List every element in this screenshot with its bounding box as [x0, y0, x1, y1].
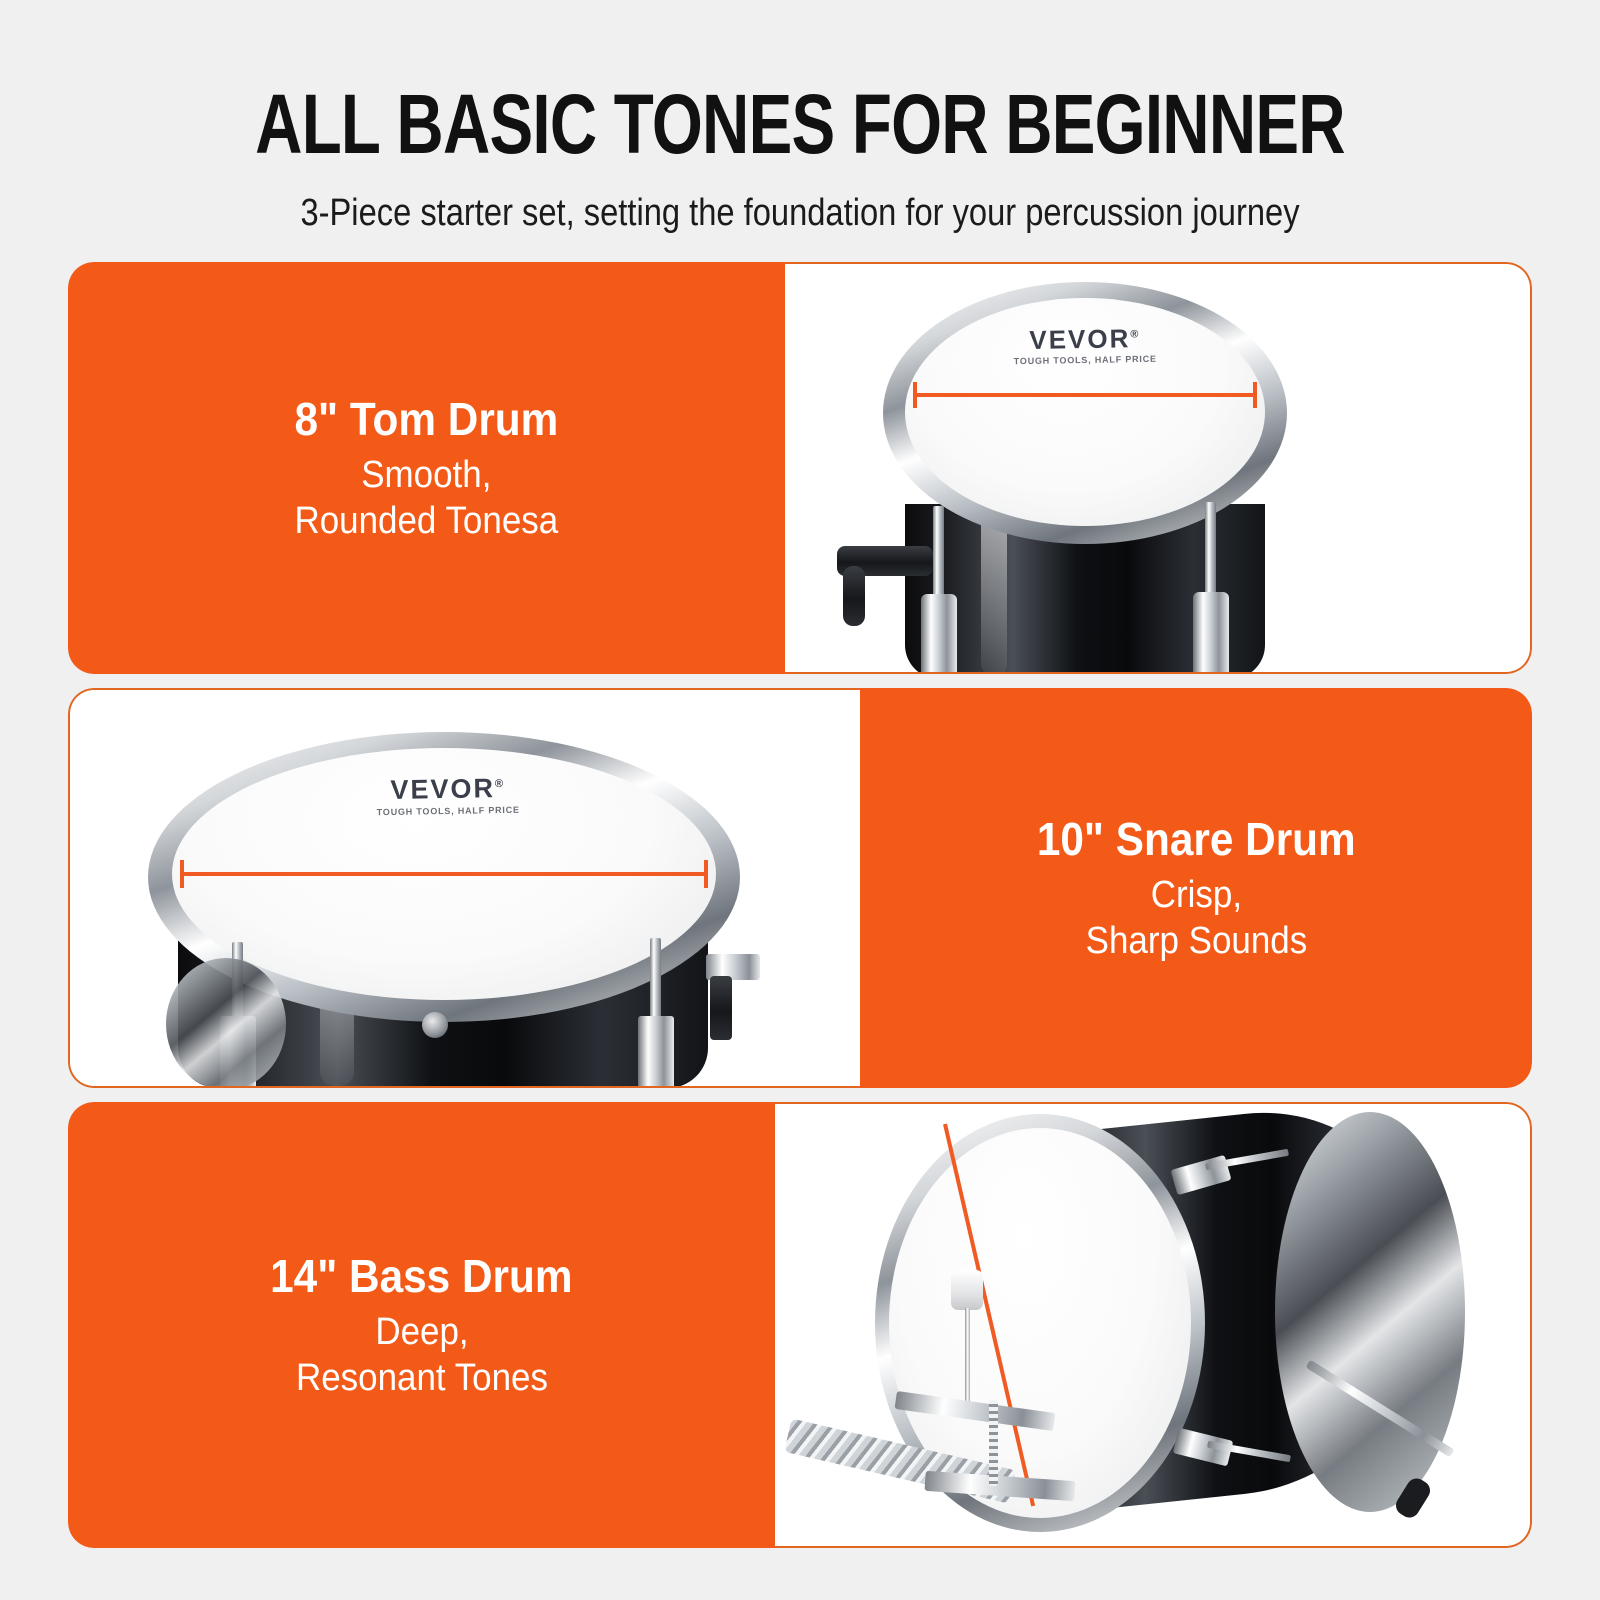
infographic-page: ALL BASIC TONES FOR BEGINNER 3-Piece sta…	[0, 0, 1600, 1600]
snare-drum-illustration: VEVOR® TOUGH TOOLS, HALF PRICE	[70, 690, 860, 1086]
bass-drum-desc-line2: Resonant Tones	[295, 1357, 547, 1399]
tom-drum-measure-cap-left	[913, 382, 917, 408]
feature-card-snare-drum: VEVOR® TOUGH TOOLS, HALF PRICE	[68, 688, 1532, 1088]
tom-drum-text-panel: 8" Tom Drum Smooth, Rounded Tonesa	[68, 262, 785, 674]
bass-drum-beater-head	[951, 1270, 983, 1310]
tom-drum-illustration: VEVOR® TOUGH TOOLS, HALF PRICE	[785, 264, 1530, 672]
vevor-logo: VEVOR® TOUGH TOOLS, HALF PRICE	[965, 324, 1206, 367]
registered-mark: ®	[1130, 328, 1140, 340]
bass-drum-photo-panel	[775, 1102, 1532, 1548]
bass-drum-desc-line1: Deep,	[375, 1311, 468, 1353]
tom-drum-shell-highlight	[981, 514, 1007, 674]
vevor-wordmark: VEVOR®	[328, 774, 568, 805]
tom-drum-tension-rod-left	[933, 506, 944, 602]
registered-mark: ®	[495, 778, 506, 790]
tom-drum-photo-panel: VEVOR® TOUGH TOOLS, HALF PRICE	[785, 262, 1532, 674]
tom-drum-lug-left	[921, 594, 957, 674]
snare-drum-tension-rod-right	[650, 938, 661, 1024]
feature-card-bass-drum: 14" Bass Drum Deep, Resonant Tones	[68, 1102, 1532, 1548]
snare-drum-desc-line2: Sharp Sounds	[1085, 920, 1307, 962]
snare-drum-description: Crisp, Sharp Sounds	[1085, 872, 1307, 964]
tom-drum-measure-cap-right	[1253, 382, 1257, 408]
bass-drum-back-hoop	[1275, 1112, 1465, 1512]
snare-drum-vent-hole	[422, 1012, 448, 1038]
bass-drum-beater-shaft	[965, 1308, 970, 1406]
bass-drum-description: Deep, Resonant Tones	[295, 1309, 547, 1401]
tom-drum-title: 8" Tom Drum	[295, 392, 559, 446]
tom-drum-measure-line	[913, 393, 1257, 397]
tom-drum-description: Smooth, Rounded Tonesa	[295, 452, 559, 544]
snare-drum-title: 10" Snare Drum	[1037, 812, 1356, 866]
snare-drum-measure-line	[180, 872, 708, 876]
vevor-logo: VEVOR® TOUGH TOOLS, HALF PRICE	[328, 774, 569, 818]
tom-drum-mount-knob	[843, 566, 865, 626]
vevor-wordmark: VEVOR®	[965, 324, 1205, 354]
snare-drum-measure-cap-left	[180, 860, 184, 888]
bass-drum-pedal-spring	[989, 1400, 998, 1486]
tom-drum-tension-rod-right	[1205, 502, 1216, 600]
snare-drum-bottom-hoop	[166, 958, 286, 1088]
feature-card-tom-drum: 8" Tom Drum Smooth, Rounded Tonesa VEVOR…	[68, 262, 1532, 674]
tom-drum-lug-right	[1193, 592, 1229, 674]
snare-drum-photo-panel: VEVOR® TOUGH TOOLS, HALF PRICE	[68, 688, 860, 1088]
bass-drum-illustration	[775, 1104, 1530, 1546]
page-title: ALL BASIC TONES FOR BEGINNER	[176, 78, 1424, 170]
snare-drum-strainer-body	[710, 976, 732, 1040]
snare-drum-desc-line1: Crisp,	[1150, 874, 1241, 916]
tom-drum-desc-line1: Smooth,	[361, 454, 491, 496]
snare-drum-text-panel: 10" Snare Drum Crisp, Sharp Sounds	[860, 688, 1532, 1088]
bass-drum-title: 14" Bass Drum	[270, 1249, 572, 1303]
snare-drum-lug-right	[638, 1016, 674, 1088]
tom-drum-desc-line2: Rounded Tonesa	[295, 500, 559, 542]
page-subtitle: 3-Piece starter set, setting the foundat…	[112, 190, 1488, 236]
snare-drum-measure-cap-right	[704, 860, 708, 888]
bass-drum-text-panel: 14" Bass Drum Deep, Resonant Tones	[68, 1102, 775, 1548]
